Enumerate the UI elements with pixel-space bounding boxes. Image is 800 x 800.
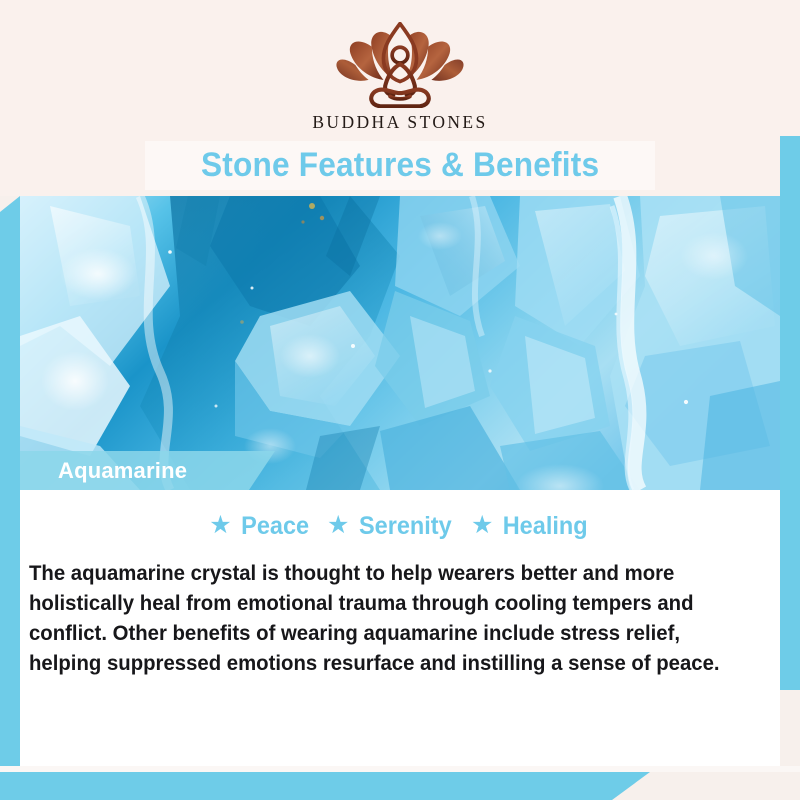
- feature-item-serenity: ★ Serenity: [327, 512, 455, 541]
- star-icon: ★: [209, 513, 231, 538]
- header-band: BUDDHA STONES Stone Features & Benefits: [0, 0, 800, 196]
- title-banner: Stone Features & Benefits: [145, 141, 655, 190]
- feature-label: Healing: [503, 512, 588, 541]
- infographic-page: BUDDHA STONES Stone Features & Benefits: [0, 0, 800, 800]
- feature-label: Peace: [241, 512, 309, 541]
- description-text: The aquamarine crystal is thought to hel…: [29, 558, 747, 678]
- feature-list: ★ Peace ★ Serenity ★ Healing: [20, 512, 780, 541]
- feature-item-peace: ★ Peace: [209, 512, 311, 541]
- content-panel: ★ Peace ★ Serenity ★ Healing The aquamar…: [20, 490, 780, 690]
- brand-logo: BUDDHA STONES: [0, 22, 800, 133]
- star-icon: ★: [327, 513, 349, 538]
- decorative-strip-right: [780, 136, 800, 690]
- stone-name-tag: Aquamarine: [20, 451, 275, 490]
- content-bottom-fill: [20, 690, 780, 766]
- stone-name-label: Aquamarine: [58, 458, 187, 484]
- brand-name: BUDDHA STONES: [312, 112, 487, 133]
- feature-label: Serenity: [359, 512, 452, 541]
- lotus-meditation-figure-icon: [316, 22, 484, 108]
- aquamarine-crystal-cluster-photo: [20, 196, 780, 490]
- feature-item-healing: ★ Healing: [471, 512, 591, 541]
- page-title: Stone Features & Benefits: [201, 146, 599, 185]
- hero-image: [20, 196, 780, 490]
- decorative-bottom-gap: [0, 766, 800, 772]
- star-icon: ★: [471, 513, 493, 538]
- decorative-bar-bottom: [0, 772, 650, 800]
- decorative-strip-left: [0, 196, 20, 772]
